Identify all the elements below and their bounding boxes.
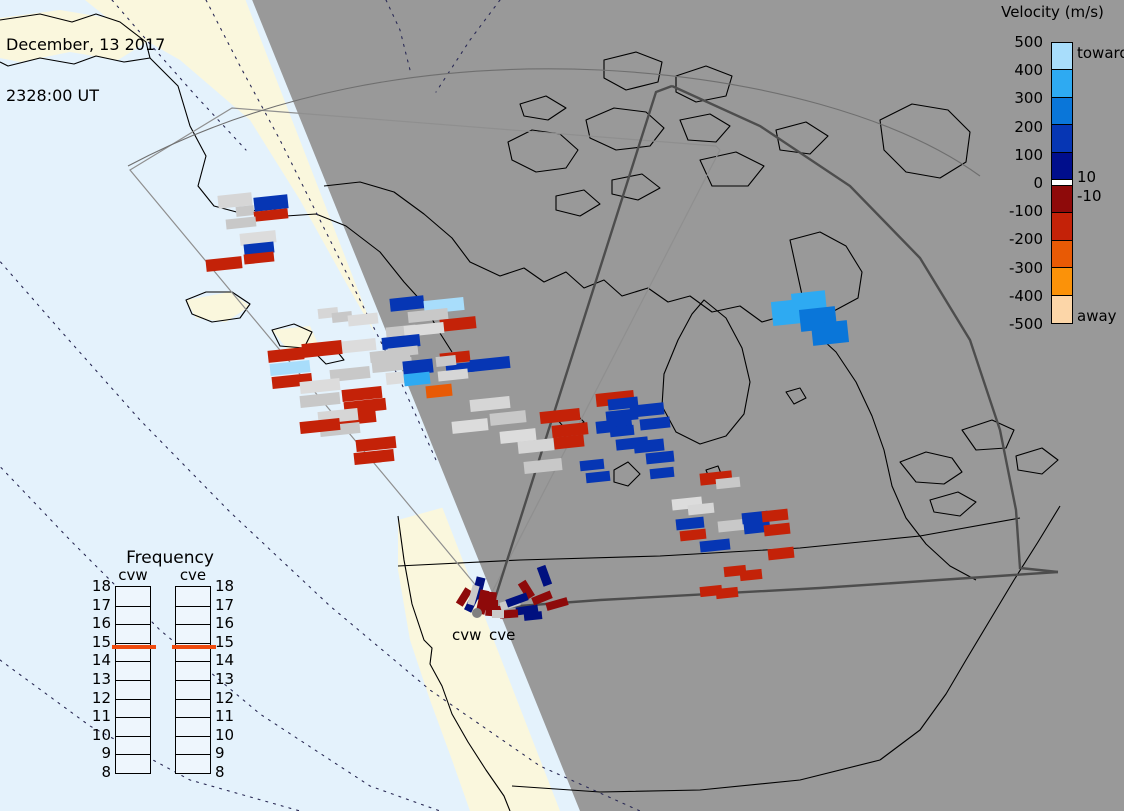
frequency-rung <box>176 754 210 755</box>
colorbar-segment <box>1052 98 1072 125</box>
map-canvas: December, 13 2017 2328:00 UT Velocity (m… <box>0 0 1124 811</box>
frequency-tick: 10 <box>85 726 111 744</box>
time-line: 2328:00 UT <box>6 87 165 104</box>
frequency-marker-cve <box>172 645 216 649</box>
frequency-tick: 10 <box>215 726 241 744</box>
frequency-tick: 11 <box>215 707 241 725</box>
frequency-title: Frequency <box>85 548 255 568</box>
frequency-rung <box>116 736 150 737</box>
colorbar-side-labels: toward10-10away <box>1077 0 1124 340</box>
colorbar-gradient <box>1051 42 1073 324</box>
colorbar-tick: 400 <box>1014 61 1043 79</box>
frequency-rung <box>176 736 210 737</box>
frequency-column-label-cvw: cvw <box>115 566 151 584</box>
colorbar-zero-low-label: -10 <box>1077 187 1102 205</box>
frequency-ticks-left: 18171615141312111098 <box>85 586 111 774</box>
frequency-tick: 17 <box>215 596 241 614</box>
site-label-cve: cve <box>489 626 515 644</box>
colorbar-tick-labels: 5004003002001000-100-200-300-400-500 <box>975 0 1047 340</box>
frequency-bar-cve <box>175 586 211 774</box>
frequency-rung <box>176 661 210 662</box>
frequency-tick: 18 <box>85 577 111 595</box>
colorbar-tick: 300 <box>1014 89 1043 107</box>
frequency-bar-cvw <box>115 586 151 774</box>
frequency-rung <box>116 754 150 755</box>
colorbar-tick: -500 <box>1009 315 1043 333</box>
colorbar-tick: -400 <box>1009 287 1043 305</box>
frequency-rung <box>176 717 210 718</box>
colorbar-segment <box>1052 70 1072 97</box>
colorbar-segment <box>1052 296 1072 323</box>
frequency-tick: 13 <box>85 670 111 688</box>
frequency-tick: 15 <box>215 633 241 651</box>
colorbar-tick: 0 <box>1033 174 1043 192</box>
frequency-panel: Frequency 18171615141312111098 181716151… <box>85 548 255 783</box>
frequency-rung <box>116 606 150 607</box>
frequency-tick: 9 <box>215 744 241 762</box>
frequency-column-cve: cve <box>175 586 211 774</box>
site-label-cvw: cvw <box>452 626 481 644</box>
frequency-rung <box>116 699 150 700</box>
frequency-column-cvw: cvw <box>115 586 151 774</box>
colorbar-tick: 200 <box>1014 118 1043 136</box>
frequency-rung <box>176 606 210 607</box>
frequency-tick: 14 <box>215 651 241 669</box>
colorbar-tick: -100 <box>1009 202 1043 220</box>
frequency-tick: 18 <box>215 577 241 595</box>
frequency-tick: 8 <box>215 763 241 781</box>
date-line: December, 13 2017 <box>6 36 165 53</box>
frequency-rung <box>116 624 150 625</box>
colorbar-tick: 100 <box>1014 146 1043 164</box>
frequency-rung <box>116 717 150 718</box>
frequency-tick: 12 <box>215 689 241 707</box>
frequency-tick: 13 <box>215 670 241 688</box>
timestamp-block: December, 13 2017 2328:00 UT <box>6 2 165 138</box>
colorbar-segment <box>1052 153 1072 180</box>
colorbar-segment <box>1052 186 1072 213</box>
frequency-rung <box>116 661 150 662</box>
frequency-tick: 16 <box>215 614 241 632</box>
frequency-tick: 9 <box>85 744 111 762</box>
frequency-rung <box>116 680 150 681</box>
colorbar-tick: -200 <box>1009 230 1043 248</box>
colorbar-tick: 500 <box>1014 33 1043 51</box>
frequency-tick: 14 <box>85 651 111 669</box>
colorbar-toward-label: toward <box>1077 44 1124 62</box>
colorbar-zero-high-label: 10 <box>1077 168 1096 186</box>
frequency-ticks-right: 18171615141312111098 <box>215 586 241 774</box>
colorbar-away-label: away <box>1077 307 1117 325</box>
frequency-tick: 15 <box>85 633 111 651</box>
colorbar-segment <box>1052 125 1072 152</box>
frequency-tick: 12 <box>85 689 111 707</box>
frequency-rung <box>176 699 210 700</box>
frequency-tick: 16 <box>85 614 111 632</box>
colorbar-segment <box>1052 268 1072 295</box>
frequency-tick: 17 <box>85 596 111 614</box>
frequency-tick: 8 <box>85 763 111 781</box>
colorbar-segment <box>1052 43 1072 70</box>
colorbar-segment <box>1052 241 1072 268</box>
colorbar-segment <box>1052 213 1072 240</box>
frequency-marker-cvw <box>112 645 156 649</box>
frequency-rung <box>176 624 210 625</box>
frequency-tick: 11 <box>85 707 111 725</box>
frequency-column-label-cve: cve <box>175 566 211 584</box>
frequency-rung <box>176 680 210 681</box>
colorbar-tick: -300 <box>1009 259 1043 277</box>
